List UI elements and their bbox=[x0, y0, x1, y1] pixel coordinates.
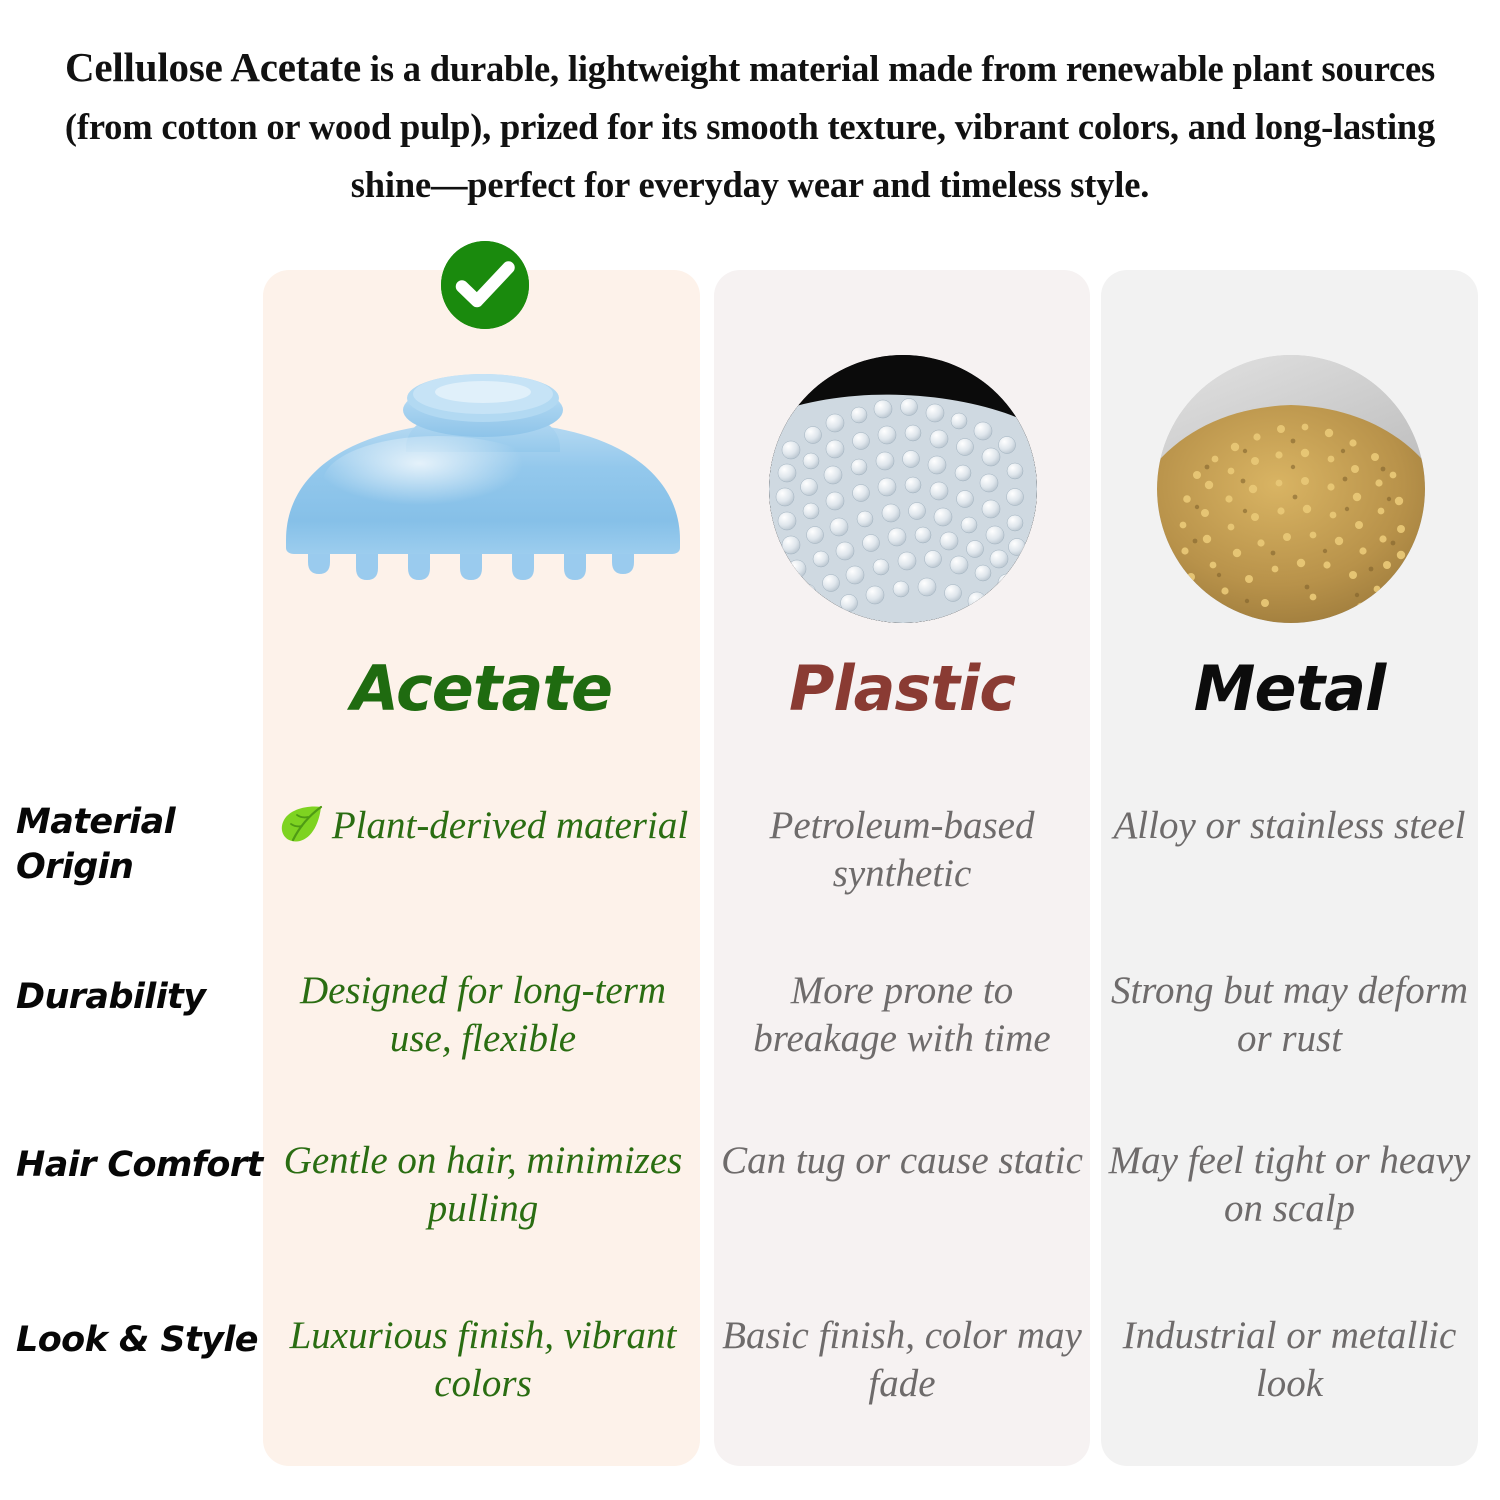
plastic-pellets-photo bbox=[769, 355, 1037, 623]
cell-acetate-look-and-style: Luxurious finish, vibrant colors bbox=[268, 1312, 698, 1409]
cell-plastic-material-origin: Petroleum-based synthetic bbox=[716, 802, 1088, 899]
row-label-line-1: Look & Style bbox=[16, 1318, 268, 1363]
cell-plastic-durability: More prone to breakage with time bbox=[716, 967, 1088, 1064]
row-label-durability: Durability bbox=[16, 975, 268, 1020]
row-label-line-1: Hair Comfort bbox=[16, 1143, 268, 1188]
row-label-hair-comfort: Hair Comfort bbox=[16, 1143, 268, 1188]
leaf-icon bbox=[278, 804, 324, 844]
column-title-acetate: Acetate bbox=[263, 652, 700, 725]
check-circle-icon bbox=[441, 241, 529, 329]
blue-claw-hair-clip-image bbox=[278, 352, 688, 602]
cell-plastic-look-and-style: Basic finish, color may fade bbox=[716, 1312, 1088, 1409]
row-label-material-origin: Material Origin bbox=[16, 800, 268, 890]
cell-metal-hair-comfort: May feel tight or heavy on scalp bbox=[1103, 1137, 1476, 1234]
cell-metal-material-origin: Alloy or stainless steel bbox=[1103, 802, 1476, 850]
intro-lead-term: Cellulose Acetate bbox=[65, 44, 361, 90]
cell-acetate-material-origin: Plant-derived material bbox=[268, 802, 698, 850]
cell-metal-durability: Strong but may deform or rust bbox=[1103, 967, 1476, 1064]
cell-acetate-durability: Designed for long-term use, flexible bbox=[268, 967, 698, 1064]
cell-text: Plant-derived material bbox=[332, 804, 688, 847]
column-title-plastic: Plastic bbox=[714, 652, 1090, 725]
cell-metal-look-and-style: Industrial or metallic look bbox=[1103, 1312, 1476, 1409]
cell-plastic-hair-comfort: Can tug or cause static bbox=[716, 1137, 1088, 1185]
gold-metal-granules-photo bbox=[1157, 355, 1425, 623]
column-title-metal: Metal bbox=[1101, 652, 1478, 725]
row-label-line-1: Durability bbox=[16, 975, 268, 1020]
cell-acetate-hair-comfort: Gentle on hair, minimizes pulling bbox=[268, 1137, 698, 1234]
intro-paragraph: Cellulose Acetate is a durable, lightwei… bbox=[40, 38, 1460, 213]
row-label-look-and-style: Look & Style bbox=[16, 1318, 268, 1363]
row-label-line-2: Origin bbox=[16, 845, 268, 890]
row-label-line-1: Material bbox=[16, 800, 268, 845]
